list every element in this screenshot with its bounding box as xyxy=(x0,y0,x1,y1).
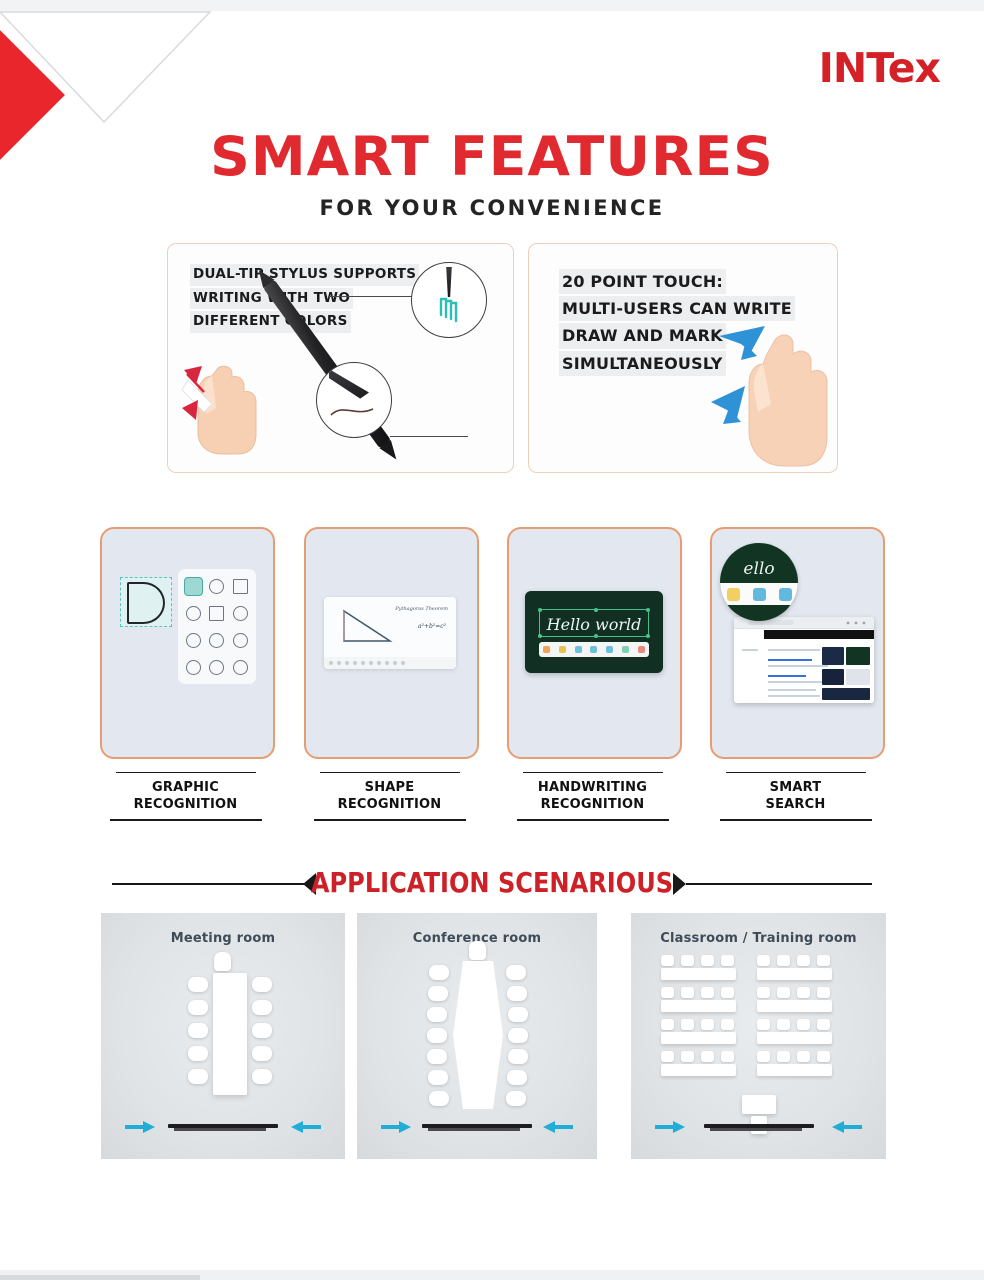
shape-option-heptagon[interactable] xyxy=(233,633,248,648)
toolbar-dot-icon xyxy=(377,661,381,665)
feature-card-20-point-touch: 20 POINT TOUCH: MULTI-USERS CAN WRITE DR… xyxy=(528,243,838,473)
chair-right xyxy=(252,1023,272,1038)
desk xyxy=(757,1000,832,1012)
shape-option-dual-circle[interactable] xyxy=(233,606,248,621)
label-line-1: GRAPHIC xyxy=(152,780,219,795)
chair-right xyxy=(508,1028,528,1043)
chair-left xyxy=(427,1049,447,1064)
toolbar-dot-icon xyxy=(369,661,373,665)
stylus-tip-zoom-bottom xyxy=(316,362,392,438)
handwriting-selection-box xyxy=(539,609,649,637)
label-line-1: HANDWRITING xyxy=(538,780,647,795)
desk xyxy=(661,968,736,980)
toolbar-icon-erase xyxy=(606,646,613,653)
interactive-board xyxy=(704,1124,814,1128)
shape-option-polygon[interactable] xyxy=(186,606,201,621)
toolbar-icon-delete xyxy=(638,646,645,653)
desk xyxy=(661,1064,736,1076)
magnified-toolbar xyxy=(720,583,798,605)
chair-left xyxy=(188,1046,208,1061)
scenario-3-board-row xyxy=(631,1117,886,1139)
label-rule-top xyxy=(726,772,866,773)
chair-left xyxy=(188,977,208,992)
handwriting-toolbar[interactable] xyxy=(539,642,649,657)
hand-drawn-shape-selection xyxy=(120,577,172,627)
feature-card-dual-tip-stylus: DUAL-TIP STYLUS SUPPORTS WRITING WITH TW… xyxy=(167,243,514,473)
search-magnifier-preview: ello xyxy=(720,543,798,621)
label-rule-bottom xyxy=(517,819,669,821)
card-shape-recognition: Pythagoras Theorem a²+b²=c² xyxy=(304,527,479,759)
card-smart-search: ello xyxy=(710,527,885,759)
feature-2-line-1: 20 POINT TOUCH: xyxy=(559,269,726,294)
scenario-conference-room: Conference room xyxy=(357,913,597,1159)
chair-left xyxy=(427,1028,447,1043)
shape-suggestion-grid xyxy=(178,569,256,684)
magnified-icon-handwriting xyxy=(727,588,740,601)
header-block: SMART FEATURES FOR YOUR CONVENIENCE xyxy=(0,130,984,220)
shape-option-arc-a[interactable] xyxy=(186,660,201,675)
feature-2-line-4: SIMULTANEOUSLY xyxy=(559,351,726,376)
magnified-icon-file xyxy=(779,588,792,601)
toolbar-icon-select xyxy=(622,646,629,653)
arrow-right-icon xyxy=(125,1121,155,1133)
shape-option-arc-b[interactable] xyxy=(209,660,224,675)
chair-right xyxy=(506,965,526,980)
toolbar-dot-icon xyxy=(393,661,397,665)
interactive-board xyxy=(422,1124,532,1128)
scenario-1-title: Meeting room xyxy=(101,931,345,946)
toolbar-dot-icon xyxy=(329,661,333,665)
label-rule-top xyxy=(320,772,460,773)
arrow-right-icon xyxy=(655,1121,685,1133)
magnified-icon-search xyxy=(753,588,766,601)
feature-1-line-3: DIFFERENT COLORS xyxy=(190,311,351,333)
toolbar-dot-icon xyxy=(337,661,341,665)
handwriting-green-board: Hello world xyxy=(525,591,663,673)
conference-table-layout xyxy=(407,961,547,1109)
label-line-2: RECOGNITION xyxy=(541,797,645,812)
stylus-tip-zoom-top xyxy=(411,262,487,338)
callout-line-bottom xyxy=(390,436,468,437)
scenario-meeting-room: Meeting room xyxy=(101,913,345,1159)
lectern-top xyxy=(742,1095,776,1114)
chair-left xyxy=(188,1023,208,1038)
meeting-table-layout xyxy=(158,973,288,1095)
toolbar-dot-icon xyxy=(401,661,405,665)
arrow-left-icon xyxy=(291,1121,321,1133)
shape-board-formula: a²+b²=c² xyxy=(418,623,446,630)
label-line-2: SEARCH xyxy=(766,797,826,812)
scenario-1-board-row xyxy=(101,1117,345,1139)
banner-line-right xyxy=(686,883,872,885)
search-browser-window xyxy=(734,617,874,703)
chair-head xyxy=(469,941,486,960)
shape-option-rounded-square[interactable] xyxy=(209,606,224,621)
search-results-body xyxy=(734,641,874,703)
chair-left xyxy=(188,1069,208,1084)
chair-right xyxy=(508,1049,528,1064)
search-result-banner xyxy=(764,630,874,639)
hand-two-finger-touch-icon xyxy=(711,306,831,471)
callout-line-top xyxy=(328,296,412,297)
poster-page: INTex SMART FEATURES FOR YOUR CONVENIENC… xyxy=(0,0,984,1280)
toolbar-icon-pen xyxy=(543,646,550,653)
label-smart-search: SMART SEARCH xyxy=(710,772,881,821)
logo-text-accent: ex xyxy=(888,44,940,92)
label-graphic-recognition: GRAPHIC RECOGNITION xyxy=(100,772,271,821)
desk xyxy=(757,1064,832,1076)
drawn-d-shape-icon xyxy=(127,582,165,624)
card-handwriting-recognition: Hello world xyxy=(507,527,682,759)
chair-right xyxy=(252,1000,272,1015)
desk-block-right xyxy=(757,955,837,1081)
desk xyxy=(757,1032,832,1044)
shape-option-hexagon[interactable] xyxy=(209,633,224,648)
label-rule-bottom xyxy=(720,819,872,821)
feature-2-line-3: DRAW AND MARK xyxy=(559,323,726,348)
toolbar-dot-icon xyxy=(353,661,357,665)
toolbar-dot-icon xyxy=(345,661,349,665)
shape-option-selected[interactable] xyxy=(184,577,203,596)
interactive-board xyxy=(168,1124,278,1128)
desk-block-left xyxy=(661,955,741,1081)
chair-left xyxy=(429,965,449,980)
chair-right xyxy=(506,1091,526,1106)
label-rule-top xyxy=(523,772,663,773)
chair-head xyxy=(214,952,231,971)
window-controls-icon[interactable] xyxy=(845,621,869,625)
shape-board-toolbar[interactable] xyxy=(324,657,456,669)
hand-holding-stylus-icon xyxy=(182,346,258,456)
ink-stroke-icon xyxy=(317,363,391,437)
label-rule-bottom xyxy=(110,819,262,821)
shape-option-pentagon[interactable] xyxy=(186,633,201,648)
chair-left xyxy=(427,1007,447,1022)
toolbar-icon-shape xyxy=(575,646,582,653)
shape-recognition-board: Pythagoras Theorem a²+b²=c² xyxy=(324,597,456,669)
chair-left xyxy=(188,1000,208,1015)
page-title: SMART FEATURES xyxy=(0,130,984,184)
desk xyxy=(757,968,832,980)
chair-right xyxy=(252,977,272,992)
label-line-2: RECOGNITION xyxy=(338,797,442,812)
chair-right xyxy=(252,1046,272,1061)
label-line-1: SHAPE xyxy=(365,780,415,795)
shape-board-title: Pythagoras Theorem xyxy=(395,606,448,612)
label-line-2: RECOGNITION xyxy=(134,797,238,812)
chair-right xyxy=(507,986,527,1001)
toolbar-icon-highlight xyxy=(559,646,566,653)
chair-left xyxy=(429,1091,449,1106)
meeting-table xyxy=(213,973,247,1095)
label-rule-bottom xyxy=(314,819,466,821)
chair-right xyxy=(252,1069,272,1084)
label-shape-recognition: SHAPE RECOGNITION xyxy=(304,772,475,821)
scenario-classroom-training-room: Classroom / Training room xyxy=(631,913,886,1159)
chair-right xyxy=(507,1070,527,1085)
right-triangle-icon xyxy=(338,607,394,647)
scenario-3-title: Classroom / Training room xyxy=(631,931,886,946)
scenario-2-board-row xyxy=(357,1117,597,1139)
shape-option-arc-c[interactable] xyxy=(233,660,248,675)
conference-table xyxy=(453,961,503,1109)
label-line-1: SMART xyxy=(770,780,822,795)
intex-logo: INTex xyxy=(819,48,940,89)
toolbar-icon-text xyxy=(590,646,597,653)
label-rule-top xyxy=(116,772,256,773)
toolbar-dot-icon xyxy=(361,661,365,665)
chair-left xyxy=(428,986,448,1001)
shape-option-square[interactable] xyxy=(233,579,248,594)
bottom-edge-accent xyxy=(0,1275,200,1280)
arrow-right-icon xyxy=(381,1121,411,1133)
feature-1-line-1: DUAL-TIP STYLUS SUPPORTS xyxy=(190,264,419,286)
chair-right xyxy=(508,1007,528,1022)
card-graphic-recognition xyxy=(100,527,275,759)
stylus-nib-icon xyxy=(442,267,456,297)
arrow-left-icon xyxy=(543,1121,573,1133)
chair-left xyxy=(428,1070,448,1085)
logo-text-main: INT xyxy=(819,44,888,92)
shape-option-circle[interactable] xyxy=(209,579,224,594)
label-handwriting-recognition: HANDWRITING RECOGNITION xyxy=(507,772,678,821)
teal-squiggle-icon xyxy=(438,297,460,323)
desk xyxy=(661,1000,736,1012)
desk xyxy=(661,1032,736,1044)
arrow-left-icon xyxy=(832,1121,862,1133)
application-scenarios-banner: APPLICATION SCENARIOUS xyxy=(0,860,984,908)
page-subtitle: FOR YOUR CONVENIENCE xyxy=(0,196,984,220)
banner-arrow-right-icon xyxy=(673,873,686,895)
toolbar-dot-icon xyxy=(385,661,389,665)
magnified-handwriting-text: ello xyxy=(743,559,774,579)
